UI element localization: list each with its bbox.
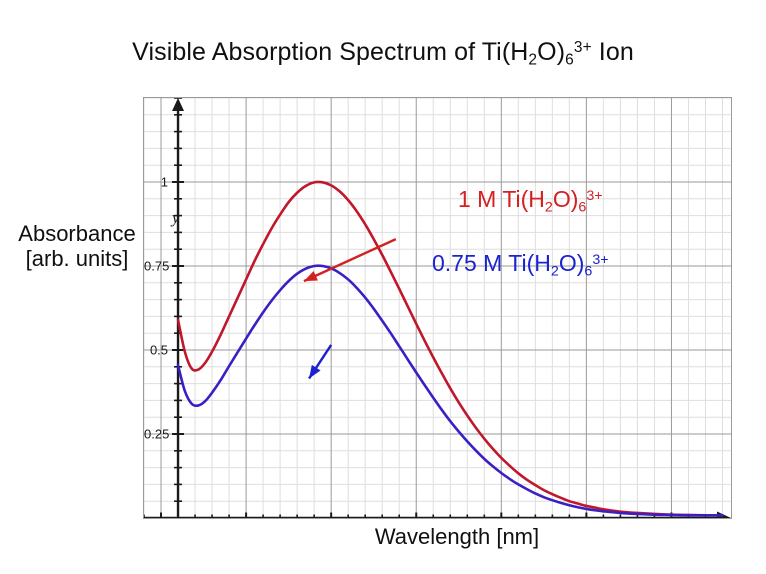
tick-label-layer: 4004505005506006507000.250.50.751 [144,98,731,518]
title-sub-water: 2 [528,51,537,68]
title-mid: O) [537,38,565,66]
y-axis-title-line1: Absorbance [6,222,148,247]
series-1-label-prefix: 0.75 M Ti(H [432,250,551,276]
title-sub-six: 6 [565,51,574,68]
y-tick-label: 0.5 [144,343,168,358]
y-tick-label: 1 [144,175,168,190]
title-prefix: Visible Absorption Spectrum of Ti(H [132,38,528,66]
series-0-label-sub-water: 2 [545,199,553,215]
y-tick-label: 0.25 [144,427,168,442]
series-0-label-prefix: 1 M Ti(H [458,186,545,212]
series-1-label-sup-charge: 3+ [592,252,608,268]
y-variable-label: y [172,208,180,228]
y-tick-label: 0.75 [144,259,168,274]
series-1-label-sub-water: 2 [551,263,559,279]
x-axis-title: Wavelength [nm] [183,524,731,550]
series-0-label-mid: O) [553,186,579,212]
series-0-label-sup-charge: 3+ [586,188,602,204]
y-axis-title: Absorbance [arb. units] [6,222,148,271]
series-label-blue: 0.75 M Ti(H2O)63+ [432,250,609,279]
plot-area: 4004505005506006507000.250.50.751 x y [143,97,732,519]
series-label-red: 1 M Ti(H2O)63+ [458,186,603,215]
title-suffix: Ion [592,38,634,66]
y-axis-title-line2: [arb. units] [6,247,148,272]
series-1-label-mid: O) [559,250,585,276]
page-title: Visible Absorption Spectrum of Ti(H2O)63… [0,38,766,69]
title-sup-charge: 3+ [574,39,592,56]
